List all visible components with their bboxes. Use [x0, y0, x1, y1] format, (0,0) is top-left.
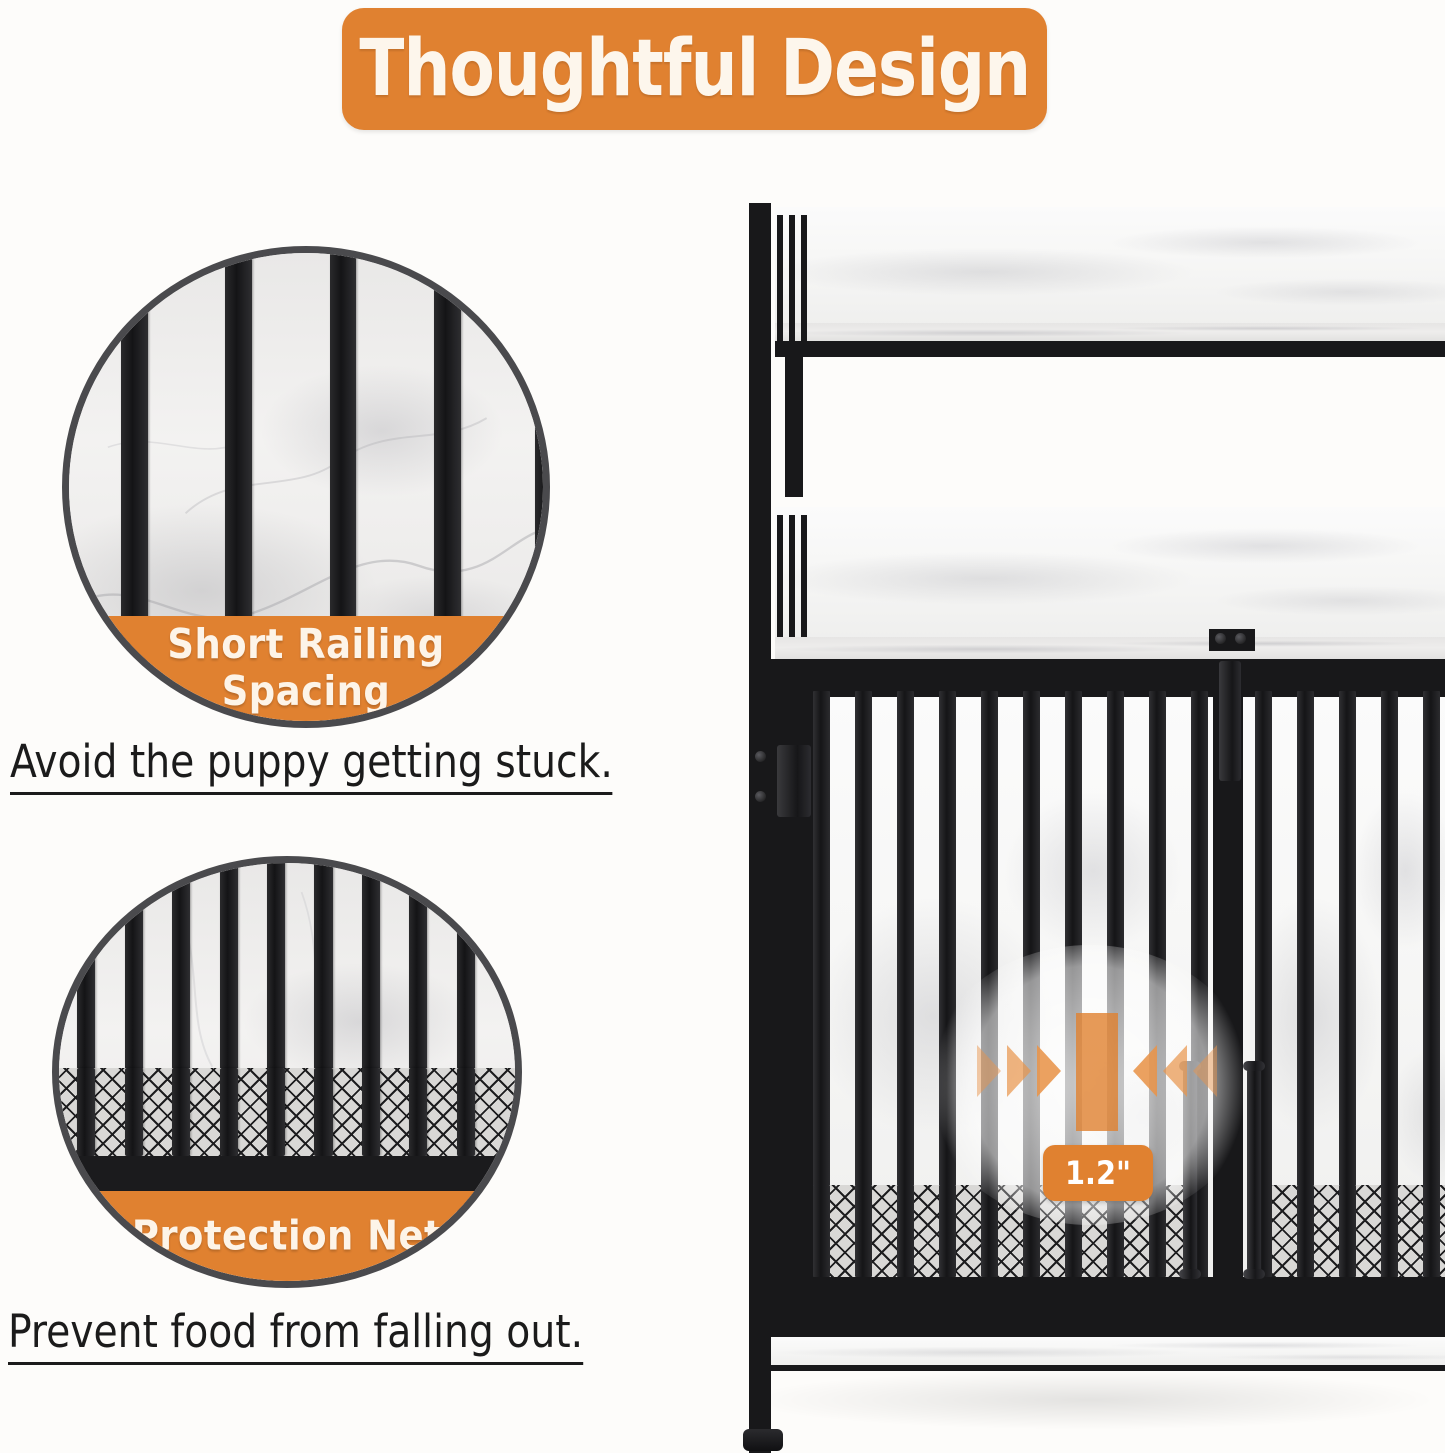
measurement-value: 1.2" — [1065, 1154, 1131, 1192]
feature-1-badge-line1: Short Railing — [69, 621, 543, 668]
infographic-canvas: Thoughtful Design Short Railing S — [0, 0, 1445, 1432]
door-hinge-icon — [777, 745, 811, 817]
floor-shadow — [740, 1370, 1440, 1430]
feature-2-badge-band: Protection Net — [59, 1191, 515, 1281]
chevron-right-icon — [1037, 1045, 1061, 1097]
marble-top-shelf — [775, 207, 1445, 325]
chevron-left-icon — [1133, 1045, 1157, 1097]
chevron-left-icon — [1163, 1045, 1187, 1097]
top-shelf-frame-rail — [775, 341, 1445, 357]
marble-middle-shelf — [775, 507, 1445, 637]
bottom-rail — [59, 1156, 515, 1192]
marble-top-shelf-edge — [775, 323, 1445, 341]
feature-2-badge-line1: Protection Net — [59, 1213, 515, 1260]
mid-shelf-side-bar — [801, 515, 807, 637]
measurement-badge: 1.2" — [1043, 1145, 1153, 1201]
product-photo-dog-crate-furniture: 1.2" — [735, 185, 1445, 1435]
cage-bottom-rail — [771, 1277, 1445, 1337]
door-latch-icon[interactable] — [1219, 661, 1241, 781]
leg-foot-pad-icon — [743, 1429, 783, 1451]
feature-1-detail-circle: Short Railing Spacing — [62, 246, 550, 728]
top-shelf-side-bar — [789, 215, 795, 343]
chevron-right-icon — [977, 1045, 1001, 1097]
mid-shelf-side-bar — [777, 515, 783, 637]
measurement-callout: 1.2" — [925, 945, 1265, 1205]
chevron-left-icon — [1193, 1045, 1217, 1097]
feature-1-badge-band: Short Railing Spacing — [69, 616, 543, 721]
gap-highlight — [1076, 1013, 1118, 1131]
mid-shelf-side-bar — [789, 515, 795, 637]
marble-middle-shelf-edge — [775, 637, 1445, 659]
feature-1-caption: Avoid the puppy getting stuck. — [10, 735, 613, 795]
top-shelf-side-bar — [777, 215, 783, 343]
feature-1-badge-line2: Spacing — [69, 668, 543, 715]
feature-2-detail-circle: Protection Net — [52, 856, 522, 1288]
chevron-right-icon — [1007, 1045, 1031, 1097]
marble-base-panel — [771, 1337, 1445, 1365]
feature-2-caption: Prevent food from falling out. — [8, 1305, 583, 1365]
page-title: Thoughtful Design — [359, 30, 1030, 108]
top-shelf-side-bar — [801, 215, 807, 343]
left-vertical-post — [749, 203, 771, 1453]
title-banner: Thoughtful Design — [342, 8, 1047, 130]
left-inner-post — [785, 357, 803, 497]
